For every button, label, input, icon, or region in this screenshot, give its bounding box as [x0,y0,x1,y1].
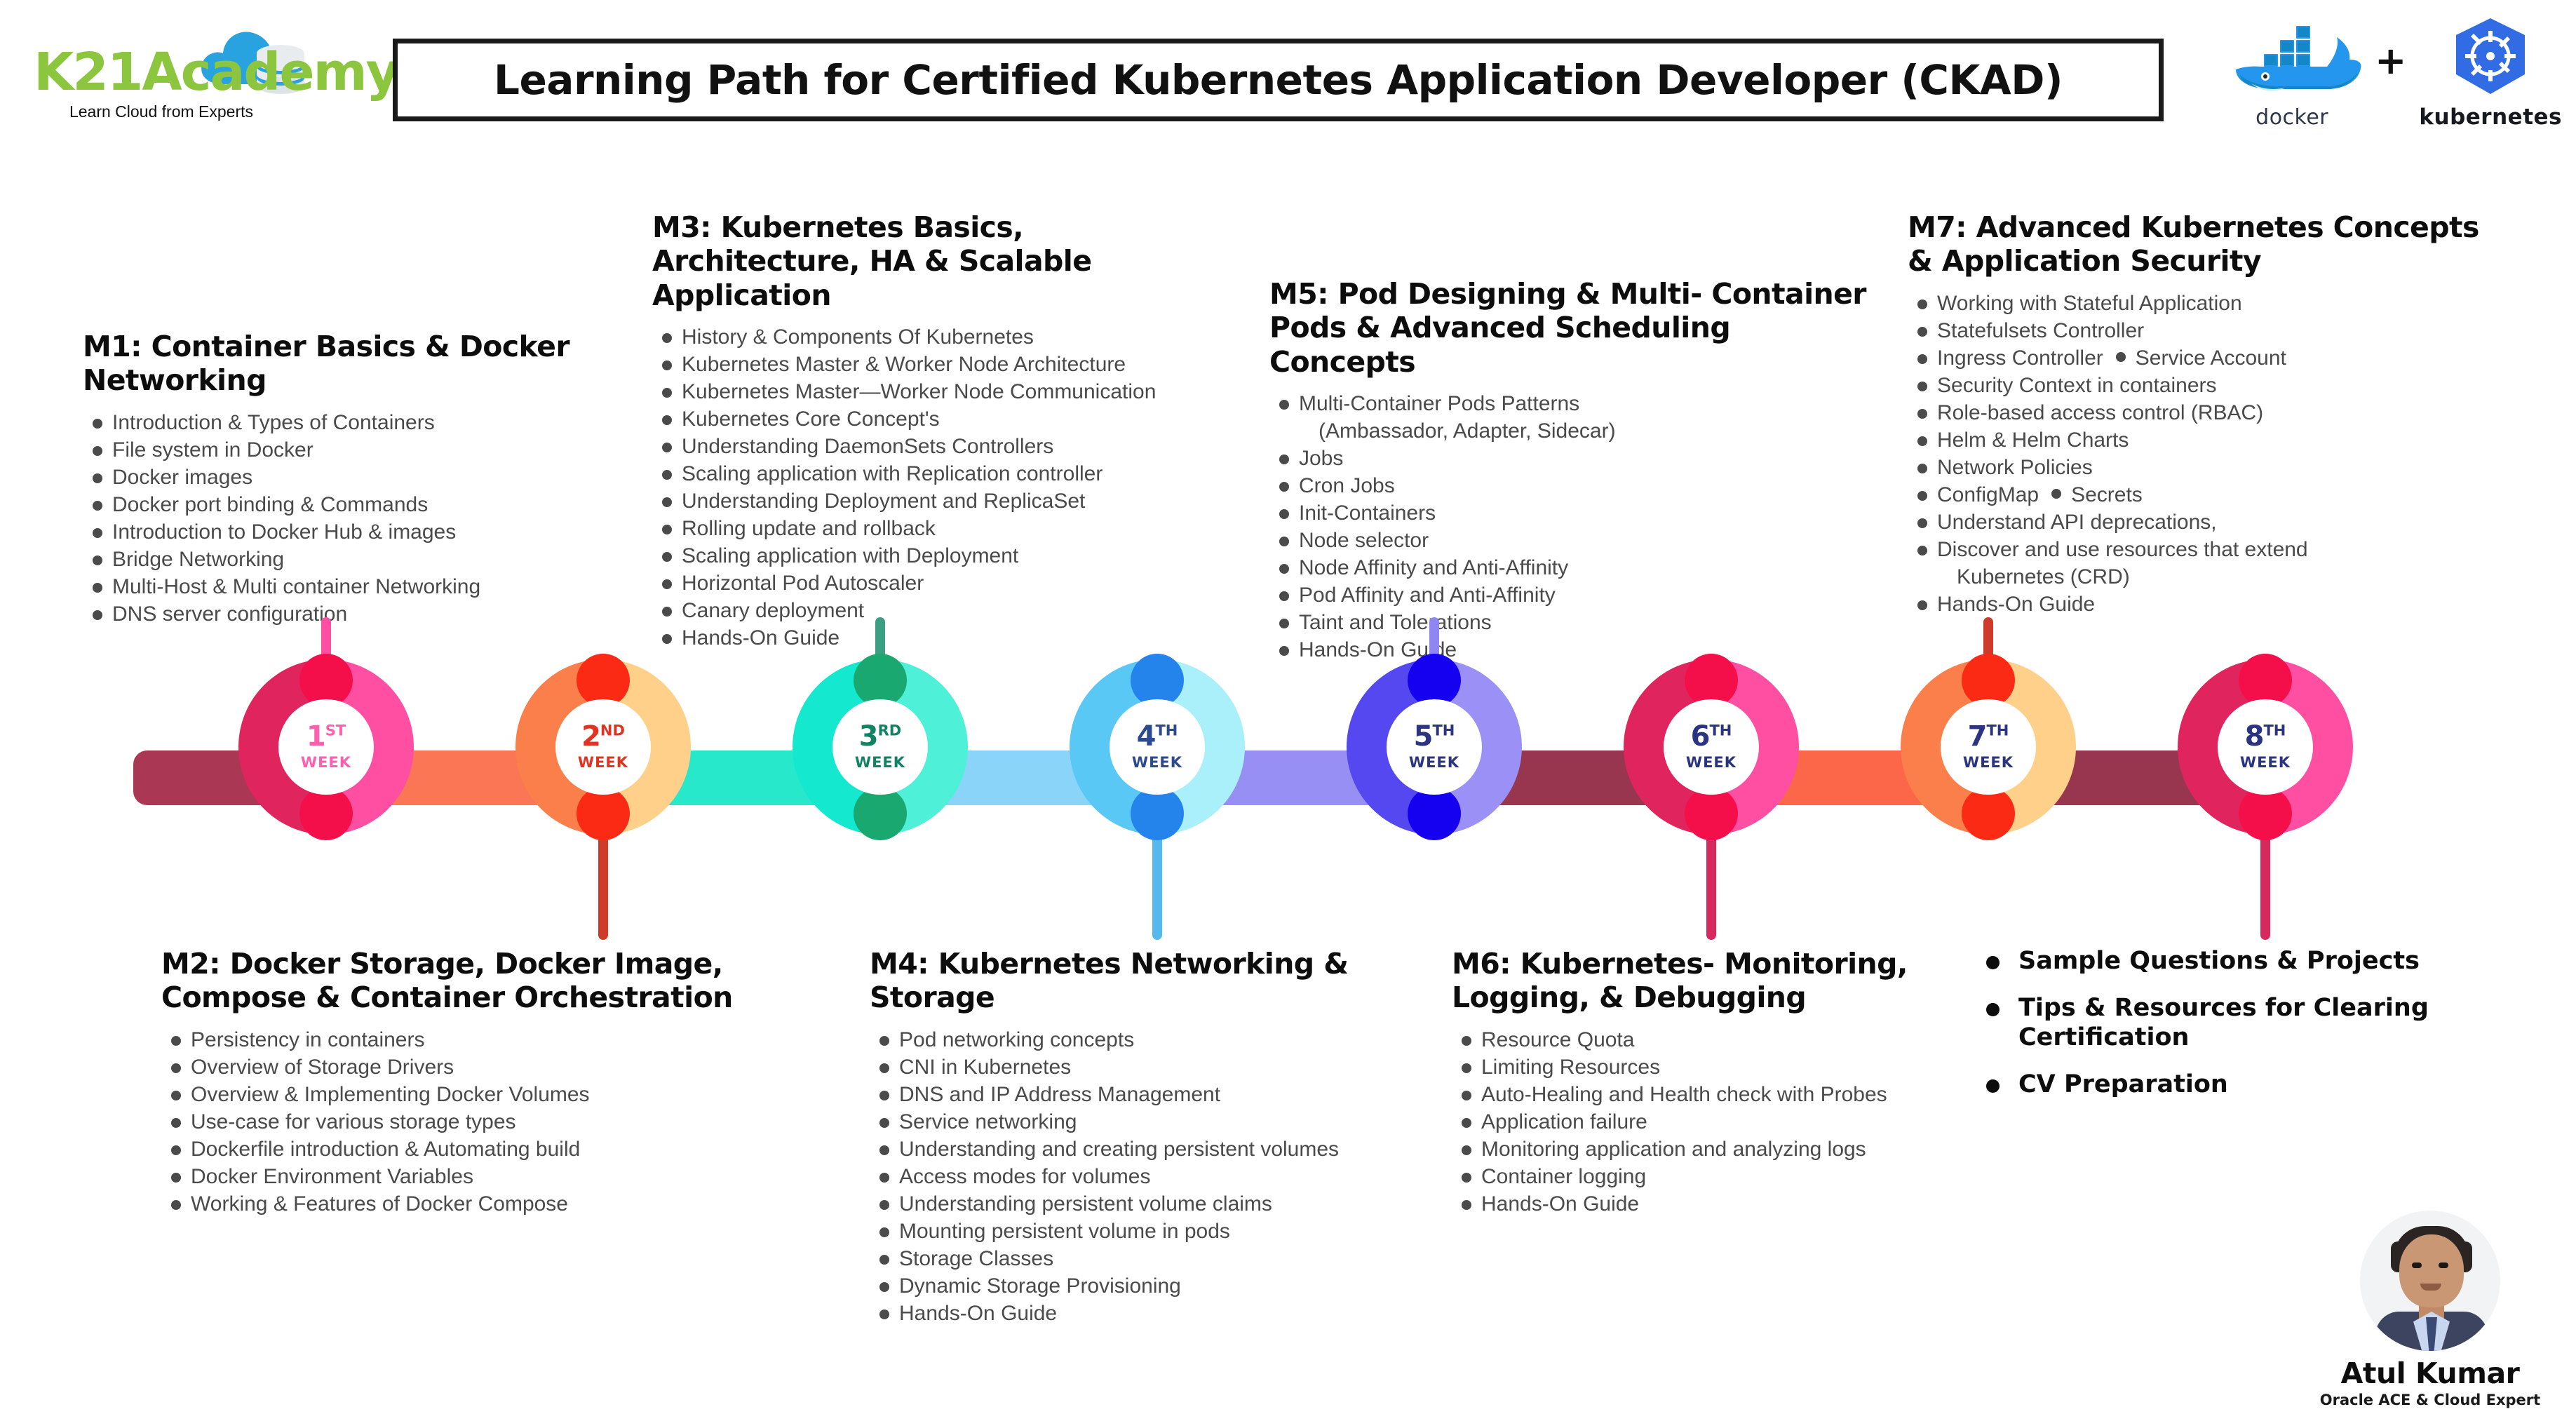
timeline-node-week-1[interactable]: 1STWEEK [238,659,414,835]
list-item-label: Kubernetes (CRD) [1957,565,2130,588]
list-item-label: Taint and Tolerations [1299,611,1492,634]
bullet-icon [1462,1036,1471,1046]
timeline-dot-bottom [576,787,630,840]
bullet-icon [2116,352,2126,362]
list-item: Resource Quota [1452,1026,1971,1053]
week-label: WEEK [855,754,905,771]
list-item-label: Scaling application with Deployment [682,544,1018,567]
timeline-node-week-3[interactable]: 3RDWEEK [793,659,968,835]
list-item-label: History & Components Of Kubernetes [682,325,1034,349]
list-item-continuation: (Ambassador, Adapter, Sidecar) [1269,417,1880,445]
bullet-icon [1279,619,1289,628]
list-item-label: Multi-Container Pods Patterns [1299,392,1579,415]
list-item-label: Init-Containers [1299,501,1436,525]
bullet-icon [171,1200,181,1210]
list-item-label: Sample Questions & Projects [2018,947,2420,975]
list-item-label: Scaling application with Replication con… [682,462,1102,485]
bullet-icon [662,388,672,398]
list-item: Overview of Storage Drivers [161,1053,736,1081]
list-item-label: Understanding persistent volume claims [899,1192,1272,1216]
list-item: CNI in Kubernetes [870,1053,1424,1081]
list-item: DNS server configuration [83,600,616,628]
list-item-label: File system in Docker [112,438,313,462]
list-item-label: Kubernetes Master—Worker Node Communicat… [682,380,1156,403]
list-item: DNS and IP Address Management [870,1081,1424,1108]
bullet-icon [1917,382,1927,391]
list-item-label: Use-case for various storage types [191,1110,516,1133]
week-label: WEEK [301,754,351,771]
list-item: Docker Environment Variables [161,1163,736,1190]
module-m5: M5: Pod Designing & Multi- Container Pod… [1269,277,1880,664]
list-item: Mounting persistent volume in pods [870,1218,1424,1245]
list-item-label: Working & Features of Docker Compose [191,1192,568,1216]
list-item: Pod networking concepts [870,1026,1424,1053]
list-item-label: Statefulsets Controller [1937,319,2144,342]
bullet-icon [879,1036,889,1046]
timeline-dot-bottom [854,787,907,840]
list-item: Helm & Helm Charts [1908,426,2490,454]
week-label: WEEK [2240,754,2291,771]
kubernetes-label: kubernetes [2419,105,2562,130]
list-item: Discover and use resources that extend [1908,536,2490,563]
module-m3: M3: Kubernetes Basics, Architecture, HA … [652,210,1206,652]
list-item-label: Security Context in containers [1937,374,2217,397]
list-item-label: Overview of Storage Drivers [191,1056,454,1079]
module-m4: M4: Kubernetes Networking & Storage Pod … [870,947,1424,1327]
bullet-icon [662,415,672,425]
kubernetes-logo: kubernetes [2419,15,2562,130]
list-item: Hands-On Guide [1452,1190,1971,1218]
bullet-icon [879,1227,889,1237]
timeline-node-inner: 8THWEEK [2218,699,2313,795]
list-item: Canary deployment [652,597,1206,624]
module-m7: M7: Advanced Kubernetes Concepts & Appli… [1908,210,2490,618]
module-m1-list: Introduction & Types of Containers File … [83,409,616,628]
list-item-label: Introduction & Types of Containers [112,411,435,434]
bullet-icon [879,1091,889,1100]
week-number: 1ST [306,723,346,750]
bullet-icon [662,607,672,617]
bullet-icon [93,446,102,456]
list-item-label: Canary deployment [682,599,864,622]
list-item-label: Storage Classes [899,1247,1053,1270]
list-item: Hands-On Guide [652,624,1206,652]
company-logo: K21Academy Learn Cloud from Experts [20,13,328,97]
week-label: WEEK [578,754,628,771]
list-item: Multi-Host & Multi container Networking [83,573,616,600]
bullet-icon [1462,1118,1471,1128]
bullet-icon [1462,1063,1471,1073]
timeline-dot-bottom [1131,787,1184,840]
list-item-label: Introduction to Docker Hub & images [112,520,456,544]
list-item-label: Pod networking concepts [899,1028,1134,1051]
timeline-dot-bottom [2239,787,2292,840]
list-item: Service networking [870,1108,1424,1136]
module-m5-title: M5: Pod Designing & Multi- Container Pod… [1269,277,1880,379]
timeline-node-inner: 5THWEEK [1387,699,1482,795]
list-item: Pod Affinity and Anti-Affinity [1269,581,1880,609]
module-m3-list: History & Components Of Kubernetes Kuber… [652,323,1206,652]
week-number: 3RD [859,723,901,750]
list-item: Limiting Resources [1452,1053,1971,1081]
list-item-label: Understanding DaemonSets Controllers [682,435,1053,458]
docker-label: docker [2222,105,2362,130]
bullet-icon [1279,537,1289,546]
week-label: WEEK [1686,754,1737,771]
list-item-label: Container logging [1481,1165,1646,1188]
list-item-label: Resource Quota [1481,1028,1634,1051]
week-number: 6TH [1691,723,1732,750]
timeline-node-week-2[interactable]: 2NDWEEK [515,659,691,835]
list-item-label: Working with Stateful Application [1937,292,2242,315]
list-item: Horizontal Pod Autoscaler [652,570,1206,597]
list-item-label: Monitoring application and analyzing log… [1481,1138,1866,1161]
list-item: History & Components Of Kubernetes [652,323,1206,351]
bullet-icon [1986,1003,2000,1016]
list-item: Container logging [1452,1163,1971,1190]
list-item: Bridge Networking [83,546,616,573]
bullet-icon [1279,564,1289,574]
module-m6-list: Resource Quota Limiting Resources Auto-H… [1452,1026,1971,1218]
list-item-label: CV Preparation [2018,1070,2228,1098]
list-item: Understanding persistent volume claims [870,1190,1424,1218]
list-item-label: Multi-Host & Multi container Networking [112,575,480,598]
bullet-icon [1279,646,1289,656]
list-item-label: Network Policies [1937,456,2093,479]
list-item: Understanding DaemonSets Controllers [652,433,1206,460]
bullet-icon [93,473,102,483]
bullet-icon [1917,518,1927,528]
list-item: Rolling update and rollback [652,515,1206,542]
docker-logo: docker [2222,16,2362,130]
author-card: Atul Kumar Oracle ACE & Cloud Expert [2311,1211,2549,1408]
bullet-icon [171,1036,181,1046]
bullet-icon [1917,464,1927,473]
list-item-label: Horizontal Pod Autoscaler [682,572,924,595]
list-item-label: Secrets [2071,483,2143,506]
bullet-icon [93,555,102,565]
bullet-icon [662,497,672,507]
list-item: Application failure [1452,1108,1971,1136]
bullet-icon [93,610,102,620]
logo-wordmark: K21Academy [34,42,398,102]
bullet-icon [879,1145,889,1155]
list-item-label: Persistency in containers [191,1028,425,1051]
bullet-icon [1917,436,1927,446]
list-item-label: Node selector [1299,529,1429,552]
module-m1-title: M1: Container Basics & Docker Networking [83,330,616,398]
list-item-label: DNS and IP Address Management [899,1083,1220,1106]
list-item-label: Understand API deprecations, [1937,511,2217,534]
list-item: Working with Stateful Application [1908,290,2490,317]
list-item: Docker port binding & Commands [83,491,616,518]
list-item: Kubernetes Master—Worker Node Communicat… [652,378,1206,405]
list-item-label: Service Account [2136,346,2286,370]
list-item: Hands-On Guide [870,1300,1424,1327]
week-number: 8TH [2245,723,2286,750]
module-m7-title: M7: Advanced Kubernetes Concepts & Appli… [1908,210,2490,278]
list-item: Dynamic Storage Provisioning [870,1272,1424,1300]
bullet-icon [879,1282,889,1292]
list-item: Working & Features of Docker Compose [161,1190,736,1218]
list-item-label: Hands-On Guide [1481,1192,1639,1216]
list-item: Storage Classes [870,1245,1424,1272]
module-m4-title: M4: Kubernetes Networking & Storage [870,947,1424,1015]
list-item-label: DNS server configuration [112,602,347,626]
module-m4-list: Pod networking concepts CNI in Kubernete… [870,1026,1424,1327]
list-item-label: Node Affinity and Anti-Affinity [1299,556,1568,579]
list-item-label: Cron Jobs [1299,474,1395,497]
week-number: 7TH [1968,723,2009,750]
bullet-icon [171,1118,181,1128]
bullet-icon [879,1173,889,1183]
list-item: Auto-Healing and Health check with Probe… [1452,1081,1971,1108]
list-item-label: Kubernetes Core Concept's [682,408,940,431]
list-item: Role-based access control (RBAC) [1908,399,2490,426]
timeline-node-inner: 2NDWEEK [555,699,651,795]
bullet-icon [1462,1145,1471,1155]
list-item-label: Service networking [899,1110,1077,1133]
bullet-icon [662,361,672,370]
list-item-continuation: Kubernetes (CRD) [1908,563,2490,591]
list-item: Access modes for volumes [870,1163,1424,1190]
timeline-node-inner: 1STWEEK [278,699,374,795]
kubernetes-helm-icon [2448,90,2533,102]
bullet-icon [662,470,672,480]
bullet-icon [1462,1173,1471,1183]
list-item-label: Discover and use resources that extend [1937,538,2308,561]
bullet-icon [1462,1200,1471,1210]
bullet-icon [662,333,672,343]
bullet-icon [1279,591,1289,601]
learning-path-timeline: 1STWEEK 2NDWEEK 3RDWEEK 4THWEEK 5THWEEK … [0,659,2576,954]
bullet-icon [1917,327,1927,337]
list-item: Introduction to Docker Hub & images [83,518,616,546]
list-item-label: Pod Affinity and Anti-Affinity [1299,584,1556,607]
list-item-label: Auto-Healing and Health check with Probe… [1481,1083,1887,1106]
bullet-icon [1279,482,1289,492]
timeline-dot-bottom [299,787,353,840]
timeline-node-week-6[interactable]: 6THWEEK [1624,659,1799,835]
list-item-label: Docker port binding & Commands [112,493,428,516]
module-m1: M1: Container Basics & Docker Networking… [83,330,616,628]
list-item-label: Hands-On Guide [682,626,839,649]
list-item-label: CNI in Kubernetes [899,1056,1071,1079]
module-m6: M6: Kubernetes- Monitoring, Logging, & D… [1452,947,1971,1218]
bullet-icon [171,1091,181,1100]
list-item-label: Hands-On Guide [899,1302,1057,1325]
bullet-icon [1279,509,1289,519]
bullet-icon [879,1118,889,1128]
list-item-label: Ingress Controller [1937,346,2103,370]
bullet-icon [2051,489,2061,499]
bullet-icon [1986,956,2000,969]
module-m2-list: Persistency in containers Overview of St… [161,1026,736,1218]
list-item-label: Rolling update and rollback [682,517,936,540]
list-item: Dockerfile introduction & Automating bui… [161,1136,736,1163]
bullet-icon [879,1063,889,1073]
list-item: Kubernetes Core Concept's [652,405,1206,433]
list-item-label: Dynamic Storage Provisioning [899,1274,1181,1298]
list-item-label: Overview & Implementing Docker Volumes [191,1083,590,1106]
list-item: Overview & Implementing Docker Volumes [161,1081,736,1108]
bullet-icon [879,1200,889,1210]
list-item-label: Bridge Networking [112,548,284,571]
certification-extras-list: Sample Questions & Projects Tips & Resou… [1978,947,2469,1117]
list-item: Multi-Container Pods Patterns [1269,390,1880,417]
list-item-label: Tips & Resources for Clearing Certificat… [2018,994,2429,1051]
list-item: Scaling application with Replication con… [652,460,1206,487]
bullet-icon [93,583,102,593]
plus-icon: + [2375,39,2406,107]
bullet-icon [879,1309,889,1319]
list-item-label: ConfigMap [1937,483,2039,506]
list-item-label: Jobs [1299,447,1343,470]
author-subtitle: Oracle ACE & Cloud Expert [2311,1392,2549,1408]
list-item: Taint and Tolerations [1269,609,1880,636]
list-item-label: (Ambassador, Adapter, Sidecar) [1319,419,1616,443]
timeline-node-inner: 3RDWEEK [832,699,928,795]
list-item: Use-case for various storage types [161,1108,736,1136]
list-item: Monitoring application and analyzing log… [1452,1136,1971,1163]
bullet-icon [1917,600,1927,610]
list-item-label: Role-based access control (RBAC) [1937,401,2263,424]
list-item-label: Limiting Resources [1481,1056,1660,1079]
list-item: Jobs [1269,445,1880,472]
week-label: WEEK [1409,754,1459,771]
timeline-dot-bottom [1408,787,1461,840]
list-item: Cron Jobs [1269,472,1880,499]
bullet-icon [879,1255,889,1265]
timeline-node-week-5[interactable]: 5THWEEK [1347,659,1522,835]
module-m5-list: Multi-Container Pods Patterns (Ambassado… [1269,390,1880,664]
list-item: Node selector [1269,527,1880,554]
docker-whale-icon [2222,91,2362,103]
bullet-icon [1917,354,1927,364]
list-item: ConfigMapSecrets [1908,481,2490,509]
timeline-node-inner: 4THWEEK [1110,699,1205,795]
list-item: Understand API deprecations, [1908,509,2490,536]
week-number: 4TH [1137,723,1178,750]
week-number: 5TH [1414,723,1455,750]
list-item-label: Mounting persistent volume in pods [899,1220,1230,1243]
author-name: Atul Kumar [2311,1356,2549,1390]
list-item-label: Hands-On Guide [1937,593,2095,616]
bullet-icon [1279,454,1289,464]
bullet-icon [1917,299,1927,309]
bullet-icon [662,443,672,452]
list-item: File system in Docker [83,436,616,464]
list-item: Statefulsets Controller [1908,317,2490,344]
timeline-node-inner: 7THWEEK [1941,699,2036,795]
week-label: WEEK [1132,754,1182,771]
list-item: Security Context in containers [1908,372,2490,399]
module-m2-title: M2: Docker Storage, Docker Image, Compos… [161,947,736,1015]
timeline-dot-bottom [1962,787,2015,840]
list-item-label: Access modes for volumes [899,1165,1150,1188]
list-item: Docker images [83,464,616,491]
timeline-node-inner: 6THWEEK [1664,699,1759,795]
list-item-label: Kubernetes Master & Worker Node Architec… [682,353,1126,376]
bullet-icon [662,525,672,534]
bullet-icon [1279,400,1289,410]
list-item: Persistency in containers [161,1026,736,1053]
bullet-icon [662,552,672,562]
bullet-icon [662,634,672,644]
list-item: Understanding Deployment and ReplicaSet [652,487,1206,515]
list-item: Scaling application with Deployment [652,542,1206,570]
list-item: Init-Containers [1269,499,1880,527]
bullet-icon [93,419,102,429]
week-number: 2ND [581,723,625,750]
list-item: Ingress ControllerService Account [1908,344,2490,372]
module-m7-list: Working with Stateful Application Statef… [1908,290,2490,618]
page-title-box: Learning Path for Certified Kubernetes A… [393,39,2164,121]
bullet-icon [1917,491,1927,501]
list-item-label: Helm & Helm Charts [1937,429,2129,452]
list-item-label: Understanding Deployment and ReplicaSet [682,490,1085,513]
list-item: Kubernetes Master & Worker Node Architec… [652,351,1206,378]
page-title: Learning Path for Certified Kubernetes A… [494,56,2063,104]
list-item: Tips & Resources for Clearing Certificat… [1978,994,2469,1052]
tech-logos: docker + [2222,15,2562,130]
list-item: Understanding and creating persistent vo… [870,1136,1424,1163]
bullet-icon [93,528,102,538]
logo-tagline: Learn Cloud from Experts [7,102,316,121]
week-label: WEEK [1963,754,2014,771]
bullet-icon [1986,1079,2000,1093]
list-item: Introduction & Types of Containers [83,409,616,436]
list-item-label: Application failure [1481,1110,1647,1133]
module-m6-title: M6: Kubernetes- Monitoring, Logging, & D… [1452,947,1971,1015]
module-m2: M2: Docker Storage, Docker Image, Compos… [161,947,736,1218]
bullet-icon [93,501,102,511]
list-item: Node Affinity and Anti-Affinity [1269,554,1880,581]
timeline-dot-bottom [1685,787,1738,840]
bullet-icon [171,1173,181,1183]
list-item-label: Docker images [112,466,252,489]
timeline-node-week-4[interactable]: 4THWEEK [1070,659,1245,835]
list-item: Network Policies [1908,454,2490,481]
bullet-icon [1917,409,1927,419]
list-item-label: Docker Environment Variables [191,1165,473,1188]
module-m3-title: M3: Kubernetes Basics, Architecture, HA … [652,210,1206,312]
timeline-node-week-7[interactable]: 7THWEEK [1901,659,2076,835]
bullet-icon [1917,546,1927,555]
bullet-icon [1462,1091,1471,1100]
bullet-icon [171,1063,181,1073]
list-item: CV Preparation [1978,1070,2469,1099]
timeline-node-week-8[interactable]: 8THWEEK [2178,659,2353,835]
bullet-icon [171,1145,181,1155]
list-item-label: Dockerfile introduction & Automating bui… [191,1138,580,1161]
list-item-label: Understanding and creating persistent vo… [899,1138,1339,1161]
avatar [2360,1211,2500,1351]
list-item: Sample Questions & Projects [1978,947,2469,976]
bullet-icon [662,579,672,589]
list-item: Hands-On Guide [1908,591,2490,618]
